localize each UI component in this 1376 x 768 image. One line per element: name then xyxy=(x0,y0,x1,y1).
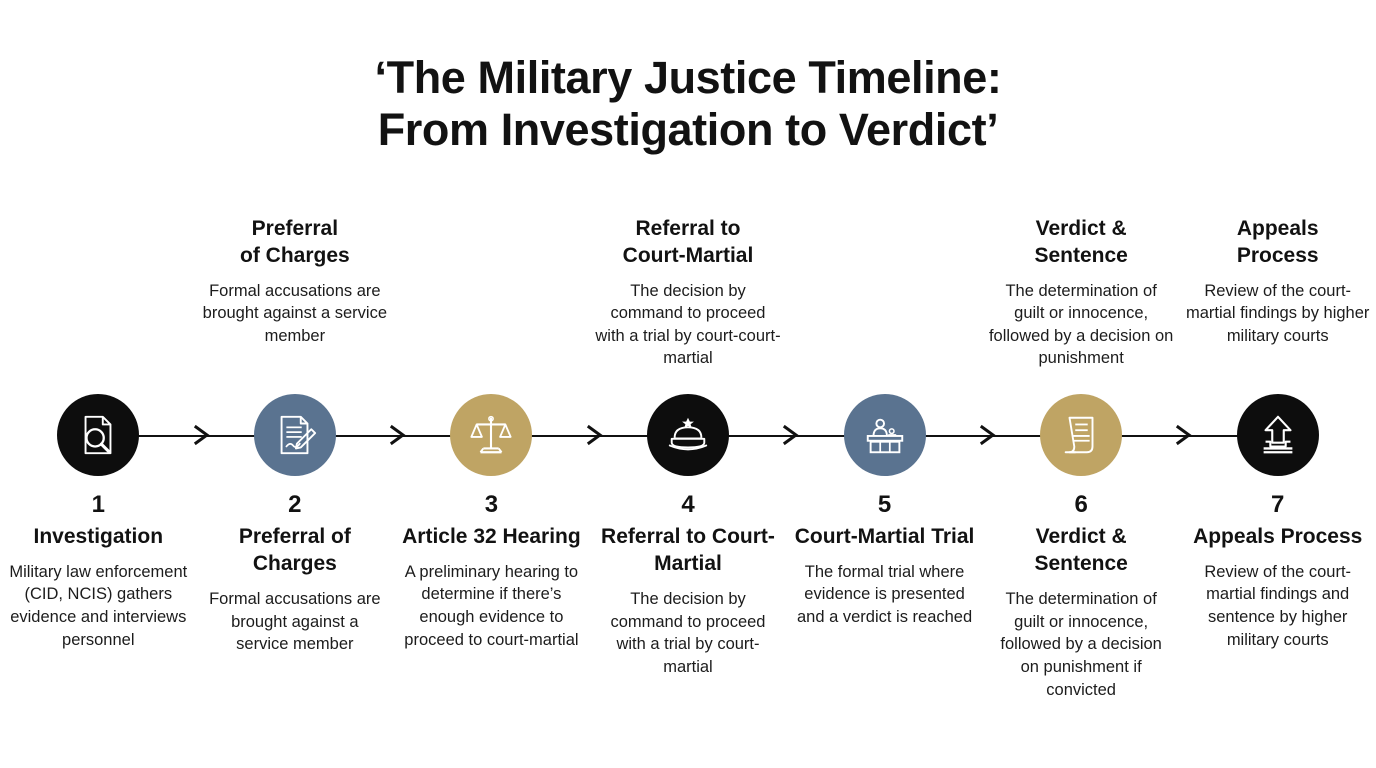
step-2-top-block: Preferral of Charges Formal accusations … xyxy=(197,205,394,387)
step-7-desc: Review of the court-martial findings and… xyxy=(1188,561,1368,651)
step-7-top-desc: Review of the court-martial findings by … xyxy=(1185,280,1371,348)
step-2-title: Preferral of Charges xyxy=(200,523,390,578)
timeline-step-5: 5 Court-Martial Trial The formal trial w… xyxy=(786,205,983,745)
page-title: ‘The Military Justice Timeline: From Inv… xyxy=(0,52,1376,156)
timeline-step-1: 1 Investigation Military law enforcement… xyxy=(0,205,197,745)
timeline: 1 Investigation Military law enforcement… xyxy=(0,205,1376,745)
step-3-circle[interactable] xyxy=(450,394,532,476)
step-7-number: 7 xyxy=(1271,491,1284,519)
step-5-title: Court-Martial Trial xyxy=(795,523,975,550)
verdict-scroll-icon xyxy=(1058,412,1104,458)
step-6-node xyxy=(983,387,1180,483)
step-3-node xyxy=(393,387,590,483)
step-1-circle[interactable] xyxy=(57,394,139,476)
chevron-right-icon xyxy=(388,423,410,447)
step-4-title: Referral to Court-Martial xyxy=(593,523,783,578)
page-title-line-1: ‘The Military Justice Timeline: xyxy=(0,52,1376,104)
step-3-bottom-block: 3 Article 32 Hearing A preliminary heari… xyxy=(393,483,590,651)
step-5-desc: The formal trial where evidence is prese… xyxy=(795,561,975,629)
step-2-circle[interactable] xyxy=(254,394,336,476)
step-5-bottom-block: 5 Court-Martial Trial The formal trial w… xyxy=(786,483,983,629)
step-1-number: 1 xyxy=(92,491,105,519)
step-4-desc: The decision by command to proceed with … xyxy=(598,588,778,678)
judge-bench-icon xyxy=(862,412,908,458)
step-7-circle[interactable] xyxy=(1237,394,1319,476)
step-4-number: 4 xyxy=(681,491,694,519)
step-7-title: Appeals Process xyxy=(1193,523,1362,550)
step-3-desc: A preliminary hearing to determine if th… xyxy=(401,561,581,651)
step-4-bottom-block: 4 Referral to Court-Martial The decision… xyxy=(590,483,787,679)
document-magnifier-icon xyxy=(75,412,121,458)
chevron-right-icon xyxy=(781,423,803,447)
timeline-step-6: Verdict & Sentence The determination of … xyxy=(983,205,1180,745)
upward-arrow-appeal-icon xyxy=(1255,412,1301,458)
step-6-number: 6 xyxy=(1074,491,1087,519)
step-7-bottom-block: 7 Appeals Process Review of the court-ma… xyxy=(1179,483,1376,651)
step-3-number: 3 xyxy=(485,491,498,519)
step-1-bottom-block: 1 Investigation Military law enforcement… xyxy=(0,483,197,651)
step-6-circle[interactable] xyxy=(1040,394,1122,476)
chevron-right-icon xyxy=(1174,423,1196,447)
step-2-top-desc: Formal accusations are brought against a… xyxy=(202,280,388,348)
step-6-top-block: Verdict & Sentence The determination of … xyxy=(983,205,1180,387)
step-7-top-block: Appeals Process Review of the court-mart… xyxy=(1179,205,1376,387)
step-2-top-title: Preferral of Charges xyxy=(240,215,350,270)
step-7-node xyxy=(1179,387,1376,483)
timeline-step-2: Preferral of Charges Formal accusations … xyxy=(197,205,394,745)
step-1-title: Investigation xyxy=(34,523,164,550)
step-2-bottom-block: 2 Preferral of Charges Formal accusation… xyxy=(197,483,394,656)
document-pen-signature-icon xyxy=(272,412,318,458)
step-1-desc: Military law enforcement (CID, NCIS) gat… xyxy=(8,561,188,651)
step-2-number: 2 xyxy=(288,491,301,519)
timeline-step-7: Appeals Process Review of the court-mart… xyxy=(1179,205,1376,745)
timeline-step-3: 3 Article 32 Hearing A preliminary heari… xyxy=(393,205,590,745)
step-5-circle[interactable] xyxy=(844,394,926,476)
page-title-line-2: From Investigation to Verdict’ xyxy=(0,104,1376,156)
timeline-step-4: Referral to Court-Martial The decision b… xyxy=(590,205,787,745)
step-2-node xyxy=(197,387,394,483)
military-officer-cap-icon xyxy=(665,412,711,458)
chevron-right-icon xyxy=(978,423,1000,447)
step-5-node xyxy=(786,387,983,483)
step-3-title: Article 32 Hearing xyxy=(402,523,581,550)
step-6-top-title: Verdict & Sentence xyxy=(1034,215,1127,270)
step-4-node xyxy=(590,387,787,483)
chevron-right-icon xyxy=(585,423,607,447)
step-4-top-desc: The decision by command to proceed with … xyxy=(595,280,781,370)
step-2-desc: Formal accusations are brought against a… xyxy=(205,588,385,656)
step-6-desc: The determination of guilt or innocence,… xyxy=(991,588,1171,701)
step-4-circle[interactable] xyxy=(647,394,729,476)
step-1-node xyxy=(0,387,197,483)
step-6-title: Verdict & Sentence xyxy=(986,523,1176,578)
scales-of-justice-icon xyxy=(468,412,514,458)
step-4-top-title: Referral to Court-Martial xyxy=(623,215,754,270)
step-5-number: 5 xyxy=(878,491,891,519)
step-7-top-title: Appeals Process xyxy=(1237,215,1319,270)
step-4-top-block: Referral to Court-Martial The decision b… xyxy=(590,205,787,387)
step-6-top-desc: The determination of guilt or innocence,… xyxy=(988,280,1174,370)
step-6-bottom-block: 6 Verdict & Sentence The determination o… xyxy=(983,483,1180,701)
chevron-right-icon xyxy=(192,423,214,447)
